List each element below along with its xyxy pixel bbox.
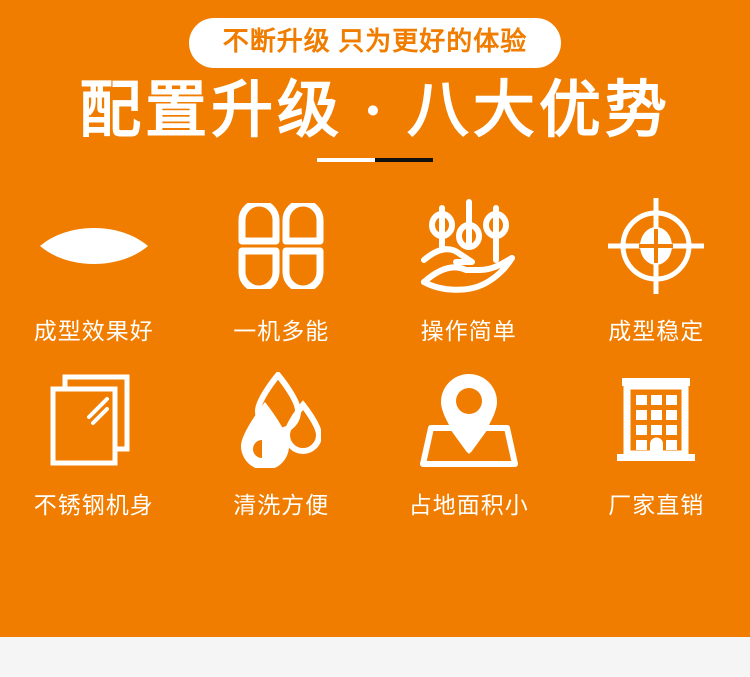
icon-container: [38, 196, 150, 296]
title-divider: [0, 158, 750, 162]
feature-cell-1: 成型效果好: [0, 196, 188, 346]
divider-light-half: [317, 158, 375, 162]
feature-label: 成型效果好: [34, 312, 154, 346]
feature-label: 操作简单: [421, 312, 517, 346]
feature-row-2: 不锈钢机身 清洗方便: [0, 370, 750, 520]
water-drops-icon: [241, 372, 321, 468]
feature-grid: 成型效果好 一机多能: [0, 196, 750, 520]
divider-dark-half: [375, 158, 433, 162]
steel-panels-icon: [49, 373, 139, 467]
feature-cell-7: 占地面积小: [375, 370, 563, 520]
icon-container: [49, 370, 139, 470]
feature-cell-4: 成型稳定: [563, 196, 750, 346]
badge-container: 不断升级 只为更好的体验: [0, 18, 750, 68]
crosshair-target-icon: [606, 196, 706, 296]
feature-label: 厂家直销: [608, 486, 704, 520]
page-title: 配置升级 · 八大优势: [0, 76, 750, 147]
tagline-badge: 不断升级 只为更好的体验: [189, 18, 562, 68]
factory-building-icon: [613, 376, 699, 464]
feature-cell-2: 一机多能: [188, 196, 376, 346]
icon-container: [241, 370, 321, 470]
hand-sliders-icon: [420, 198, 518, 294]
promo-banner: 不断升级 只为更好的体验 配置升级 · 八大优势 成型效果好: [0, 0, 750, 637]
page-background-strip: [0, 637, 750, 677]
feature-cell-5: 不锈钢机身: [0, 370, 188, 520]
icon-container: [606, 196, 706, 296]
icon-container: [420, 196, 518, 296]
feature-cell-3: 操作简单: [375, 196, 563, 346]
feature-label: 一机多能: [233, 312, 329, 346]
map-pin-icon: [419, 372, 519, 468]
feature-row-1: 成型效果好 一机多能: [0, 196, 750, 346]
feature-label: 清洗方便: [233, 486, 329, 520]
four-petal-icon: [238, 203, 324, 289]
feature-cell-6: 清洗方便: [188, 370, 376, 520]
icon-container: [238, 196, 324, 296]
icon-container: [419, 370, 519, 470]
feature-label: 不锈钢机身: [34, 486, 154, 520]
feature-cell-8: 厂家直销: [563, 370, 750, 520]
feature-label: 成型稳定: [608, 312, 704, 346]
icon-container: [613, 370, 699, 470]
feature-label: 占地面积小: [409, 486, 529, 520]
lens-icon: [38, 214, 150, 278]
